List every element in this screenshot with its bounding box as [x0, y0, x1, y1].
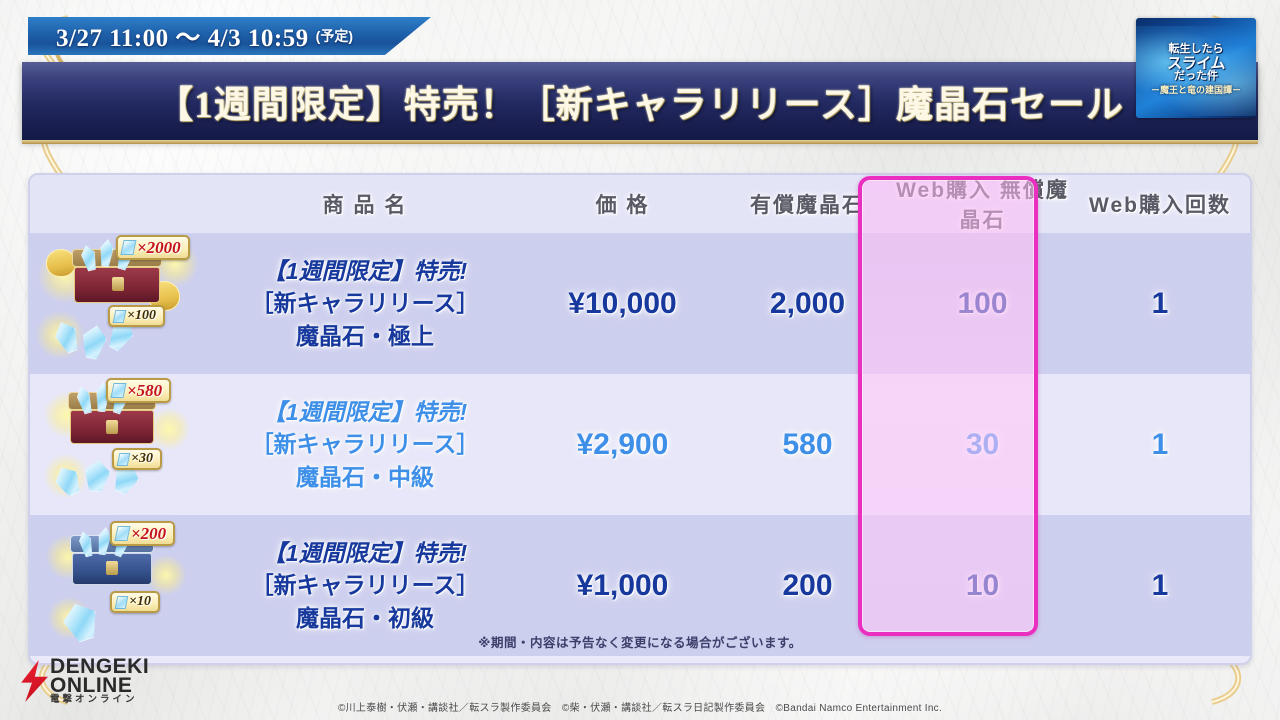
game-logo-line1: 転生したら — [1136, 44, 1256, 56]
item-price: ¥2,900 — [577, 428, 669, 461]
game-logo-line4: －魔王と竜の建国譚－ — [1136, 86, 1256, 95]
gem-quantity-badge-bottom: ×30 — [112, 448, 162, 470]
item-web-free-gems: 10 — [966, 569, 999, 602]
item-paid-gems: 2,000 — [770, 287, 845, 320]
gem-quantity-badge-top: ×2000 — [116, 235, 190, 260]
event-period-banner: 3/27 11:00 ～ 4/3 10:59 (予定) — [28, 17, 431, 55]
item-name-line3: 魔晶石・極上 — [205, 320, 525, 353]
disclaimer-note: ※期間・内容は予告なく変更になる場合がございます。 — [30, 632, 1250, 651]
gem-icon — [115, 596, 129, 609]
item-name-cell: 【1週間限定】特売! ［新キャラリリース］ 魔晶石・初級 — [205, 537, 525, 635]
gem-quantity-bottom: ×30 — [131, 452, 153, 466]
item-name-line1: 【1週間限定】特売! — [205, 255, 525, 288]
item-name-line1: 【1週間限定】特売! — [205, 537, 525, 570]
gem-quantity-bottom: ×10 — [129, 595, 151, 609]
gem-quantity-badge-top: ×200 — [110, 521, 175, 546]
sale-items-table: 商 品 名 価 格 有償魔晶石 Web購入 無償魔晶石 Web購入回数 — [28, 173, 1252, 665]
page-title: 【1週間限定】特売！［新キャラリリース］魔晶石セール — [156, 74, 1124, 128]
game-logo-line3: だった件 — [1136, 71, 1256, 83]
item-price-cell: ¥1,000 — [525, 569, 720, 603]
header-web-purchase-count: Web購入回数 — [1070, 189, 1250, 219]
item-web-free-gems-cell: 30 — [895, 428, 1070, 462]
item-name-line2: ［新キャラリリース］ — [205, 569, 525, 602]
header-web-free-gems: Web購入 無償魔晶石 — [895, 174, 1070, 234]
item-name-line2: ［新キャラリリース］ — [205, 287, 525, 320]
gem-icon — [114, 526, 130, 541]
table-header-row: 商 品 名 価 格 有償魔晶石 Web購入 無償魔晶石 Web購入回数 — [30, 175, 1250, 233]
item-paid-gems: 580 — [782, 428, 832, 461]
item-web-count: 1 — [1152, 287, 1169, 320]
event-period-note: (予定) — [316, 26, 353, 46]
item-name-line3: 魔晶石・初級 — [205, 602, 525, 635]
item-web-free-gems-cell: 100 — [895, 287, 1070, 321]
game-logo: 転生したら スライム だった件 －魔王と竜の建国譚－ — [1136, 18, 1256, 118]
item-web-count: 1 — [1152, 428, 1169, 461]
header-paid-gems: 有償魔晶石 — [720, 189, 895, 219]
gem-quantity-top: ×2000 — [137, 239, 181, 256]
promo-banner-screen: 3/27 11:00 ～ 4/3 10:59 (予定) 【1週間限定】特売！［新… — [0, 0, 1280, 720]
header-icon-spacer — [30, 175, 205, 233]
item-name-line1: 【1週間限定】特売! — [205, 396, 525, 429]
header-product-name: 商 品 名 — [205, 189, 525, 219]
gem-icon — [117, 453, 131, 466]
gem-quantity-top: ×580 — [127, 382, 162, 399]
item-price: ¥10,000 — [568, 287, 676, 320]
item-paid-gems-cell: 580 — [720, 428, 895, 462]
item-name-line2: ［新キャラリリース］ — [205, 428, 525, 461]
item-web-count: 1 — [1152, 569, 1169, 602]
lightning-bolt-icon — [14, 660, 54, 702]
item-artwork-cell: ×580 ×30 — [30, 374, 205, 515]
promo-title-banner: 【1週間限定】特売！［新キャラリリース］魔晶石セール — [22, 62, 1258, 140]
item-web-free-gems: 30 — [966, 428, 999, 461]
gem-quantity-badge-bottom: ×100 — [108, 305, 165, 327]
item-price-cell: ¥10,000 — [525, 287, 720, 321]
item-web-count-cell: 1 — [1070, 428, 1250, 462]
header-price: 価 格 — [525, 189, 720, 219]
table-row[interactable]: ×580 ×30 【1週間限定】特売! ［新キャラリリース］ 魔晶石・中級 ¥2… — [30, 374, 1250, 515]
item-artwork-cell: ×2000 ×100 — [30, 233, 205, 374]
item-web-count-cell: 1 — [1070, 287, 1250, 321]
gem-icon — [120, 240, 136, 255]
gem-quantity-bottom: ×100 — [127, 309, 156, 323]
gem-quantity-badge-bottom: ×10 — [110, 591, 160, 613]
game-logo-line2: スライム — [1136, 56, 1256, 72]
item-web-free-gems-cell: 10 — [895, 569, 1070, 603]
item-paid-gems-cell: 200 — [720, 569, 895, 603]
table-row[interactable]: ×2000 ×100 【1週間限定】特売! ［新キャラリリース］ 魔晶石・極上 … — [30, 233, 1250, 374]
gem-quantity-badge-top: ×580 — [106, 378, 171, 403]
item-name-line3: 魔晶石・中級 — [205, 461, 525, 494]
event-period-text: 3/27 11:00 ～ 4/3 10:59 — [56, 18, 309, 54]
copyright-notice: ©川上泰樹・伏瀬・講談社／転スラ製作委員会 ©柴・伏瀬・講談社／転スラ日記製作委… — [0, 699, 1280, 714]
item-paid-gems-cell: 2,000 — [720, 287, 895, 321]
item-name-cell: 【1週間限定】特売! ［新キャラリリース］ 魔晶石・極上 — [205, 255, 525, 353]
item-web-count-cell: 1 — [1070, 569, 1250, 603]
item-paid-gems: 200 — [782, 569, 832, 602]
gem-icon — [113, 310, 127, 323]
gem-quantity-top: ×200 — [131, 525, 166, 542]
item-price-cell: ¥2,900 — [525, 428, 720, 462]
dengeki-logo-line2: ONLINE — [50, 676, 149, 695]
item-web-free-gems: 100 — [957, 287, 1007, 320]
item-price: ¥1,000 — [577, 569, 669, 602]
gem-icon — [110, 383, 126, 398]
item-name-cell: 【1週間限定】特売! ［新キャラリリース］ 魔晶石・中級 — [205, 396, 525, 494]
